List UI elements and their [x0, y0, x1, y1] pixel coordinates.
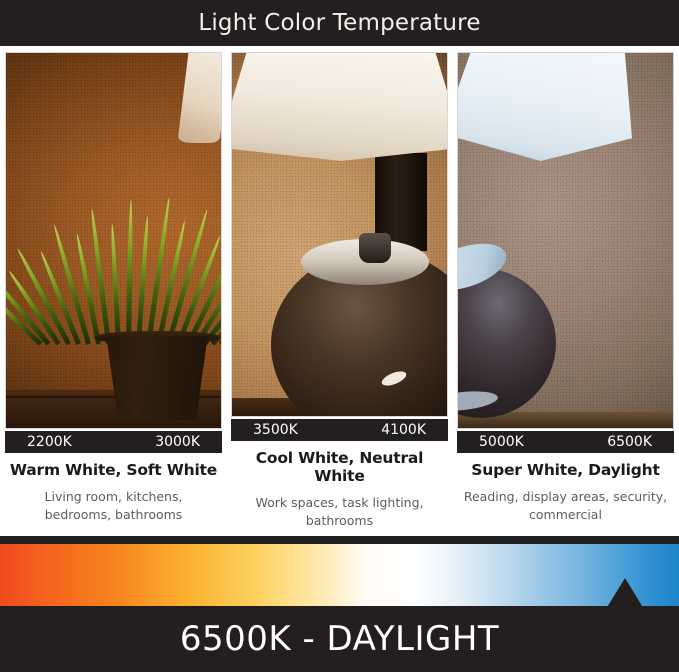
- selected-temperature-bar: 6500K - DAYLIGHT: [0, 606, 679, 672]
- column-warm-white: 2200K 3000K Warm White, Soft White Livin…: [5, 52, 222, 530]
- scale-marker-triangle-icon: [606, 578, 644, 609]
- page-title: Light Color Temperature: [198, 10, 480, 36]
- kelvin-low-value: 2200K: [27, 434, 72, 450]
- caption-title-warm-white: Warm White, Soft White: [5, 461, 222, 479]
- kelvin-high-value: 4100K: [381, 422, 426, 438]
- caption-uses-cool-white: Work spaces, task lighting, bathrooms: [231, 494, 448, 530]
- grass-plant: [36, 184, 221, 344]
- kelvin-range-cool-white: 3500K 4100K: [231, 419, 448, 440]
- kelvin-high-value: 6500K: [607, 434, 652, 450]
- caption-uses-warm-white: Living room, kitchens, bedrooms, bathroo…: [5, 488, 222, 524]
- kelvin-low-value: 5000K: [479, 434, 524, 450]
- page-header: Light Color Temperature: [0, 0, 679, 46]
- column-daylight: 5000K 6500K Super White, Daylight Readin…: [457, 52, 674, 530]
- temperature-columns: 2200K 3000K Warm White, Soft White Livin…: [0, 52, 679, 530]
- column-cool-white: 3500K 4100K Cool White, Neutral White Wo…: [231, 52, 448, 530]
- color-temperature-scale: 6500K - DAYLIGHT: [0, 536, 679, 672]
- daylight-lamp-photo: [457, 52, 674, 429]
- lampshade: [232, 53, 447, 161]
- kelvin-range-warm-white: 2200K 3000K: [5, 431, 222, 453]
- cool-white-lamp-photo: [231, 52, 448, 417]
- warm-white-lamp-photo: [5, 52, 222, 429]
- kelvin-high-value: 3000K: [155, 434, 200, 450]
- caption-title-cool-white: Cool White, Neutral White: [231, 449, 448, 485]
- selected-temperature-label: 6500K - DAYLIGHT: [180, 619, 499, 659]
- kelvin-low-value: 3500K: [253, 422, 298, 438]
- caption-uses-daylight: Reading, display areas, security, commer…: [457, 488, 674, 524]
- lamp-socket-knob: [359, 233, 391, 263]
- caption-title-daylight: Super White, Daylight: [457, 461, 674, 479]
- kelvin-range-daylight: 5000K 6500K: [457, 431, 674, 453]
- kelvin-gradient-bar: [0, 544, 679, 606]
